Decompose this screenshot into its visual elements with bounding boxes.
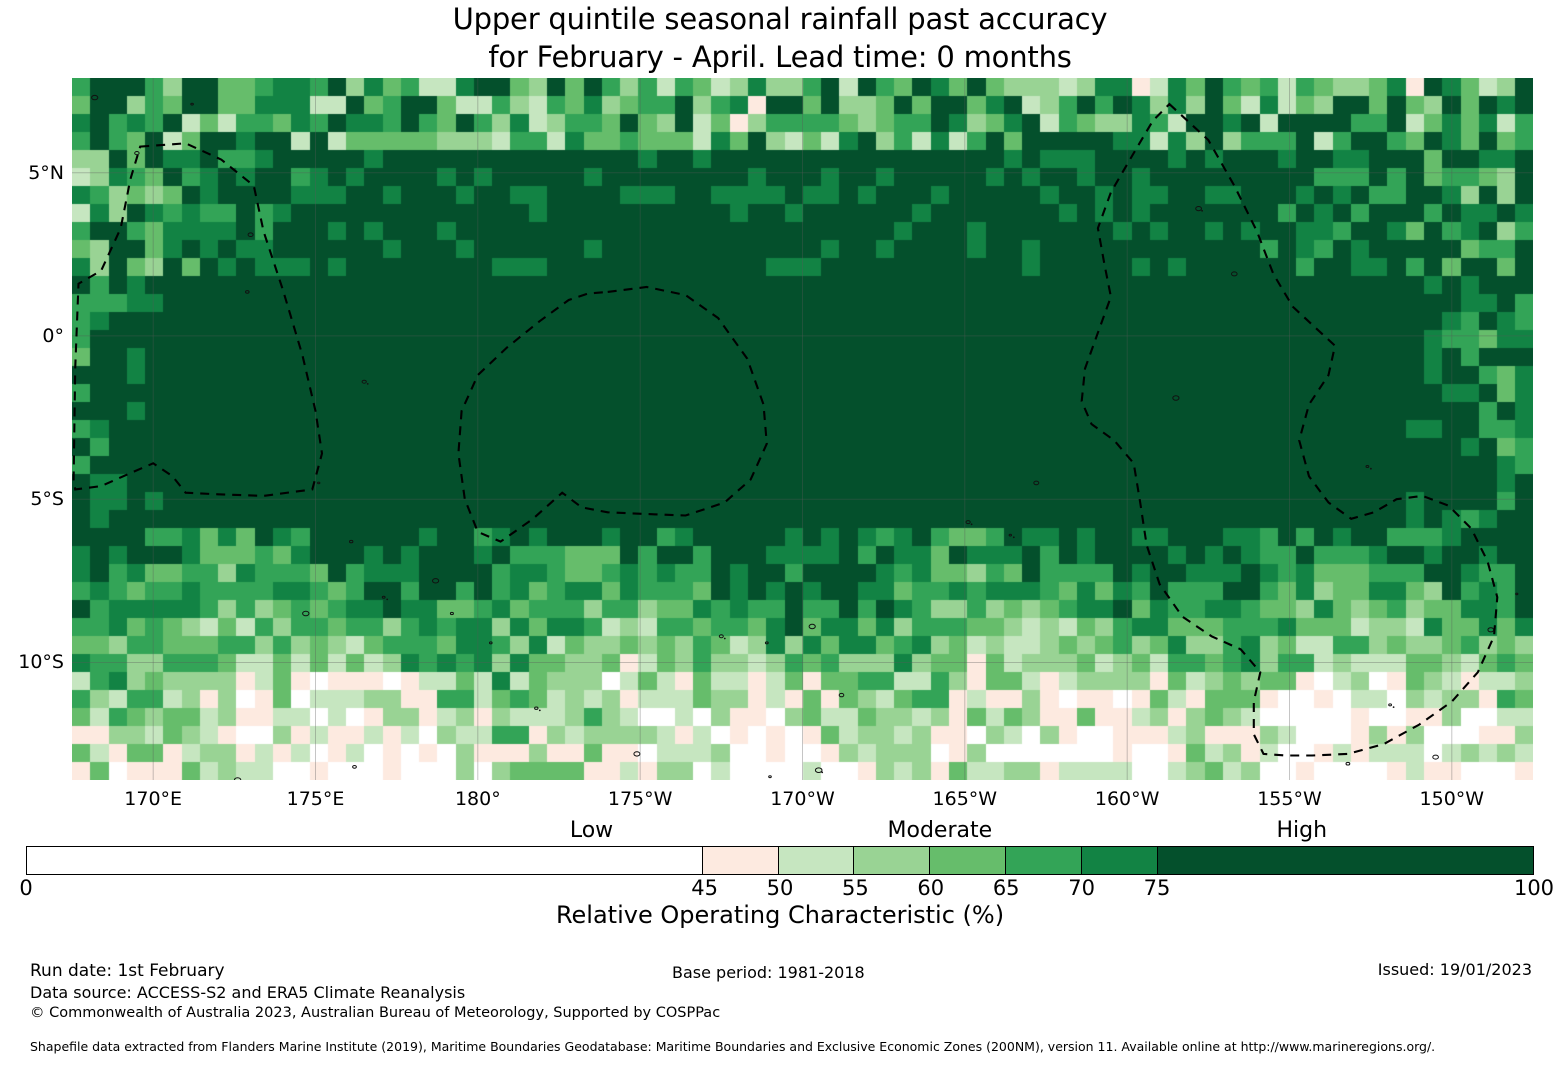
colorbar-segment [930,847,1006,874]
shapefile-attribution-text: Shapefile data extracted from Flanders M… [30,1039,1435,1054]
base-period-text: Base period: 1981-2018 [672,963,865,982]
map-panel[interactable] [72,78,1533,780]
colorbar-segment [1158,847,1533,874]
x-tick-label: 160°W [1095,788,1160,810]
colorbar-tick-labels: 045505560657075100 [0,876,1560,900]
y-tick-label: 5°S [30,488,64,510]
colorbar-category-labels: LowModerateHigh [0,818,1560,844]
x-tick-label: 170°E [124,788,182,810]
x-tick-label: 175°W [608,788,673,810]
x-tick-label: 175°E [287,788,345,810]
colorbar-tick: 100 [1514,876,1554,900]
page-title: Upper quintile seasonal rainfall past ac… [0,0,1560,76]
colorbar-category: Low [570,818,613,843]
eez-boundary-layer [72,78,1533,780]
colorbar-tick: 45 [691,876,718,900]
colorbar-category: Moderate [888,818,993,843]
run-date-text: Run date: 1st February [30,961,720,982]
data-source-text: Data source: ACCESS-S2 and ERA5 Climate … [30,982,720,1003]
x-tick-label: 165°W [933,788,998,810]
y-tick-label: 5°N [28,162,64,184]
colorbar-tick: 50 [767,876,794,900]
colorbar-tick: 75 [1144,876,1171,900]
issued-date-text: Issued: 19/01/2023 [1378,960,1532,979]
x-tick-label: 170°W [770,788,835,810]
colorbar-tick: 70 [1068,876,1095,900]
footer-left-block: Run date: 1st February Data source: ACCE… [30,961,720,1024]
colorbar-tick: 65 [993,876,1020,900]
colorbar-axis-title: Relative Operating Characteristic (%) [0,901,1560,929]
colorbar-segment [1082,847,1158,874]
colorbar-segment [779,847,855,874]
colorbar-segment [854,847,930,874]
colorbar-tick: 0 [19,876,32,900]
colorbar-segment [1006,847,1082,874]
x-tick-label: 150°W [1420,788,1485,810]
y-tick-label: 10°S [18,651,64,673]
colorbar-segment [27,847,703,874]
colorbar-tick: 60 [917,876,944,900]
y-tick-label: 0° [42,325,64,347]
copyright-text: © Commonwealth of Australia 2023, Austra… [30,1003,720,1024]
colorbar-segment [703,847,779,874]
x-tick-label: 155°W [1257,788,1322,810]
colorbar-tick: 55 [842,876,869,900]
colorbar-category: High [1276,818,1327,843]
x-tick-label: 180° [455,788,501,810]
colorbar[interactable] [26,846,1534,875]
